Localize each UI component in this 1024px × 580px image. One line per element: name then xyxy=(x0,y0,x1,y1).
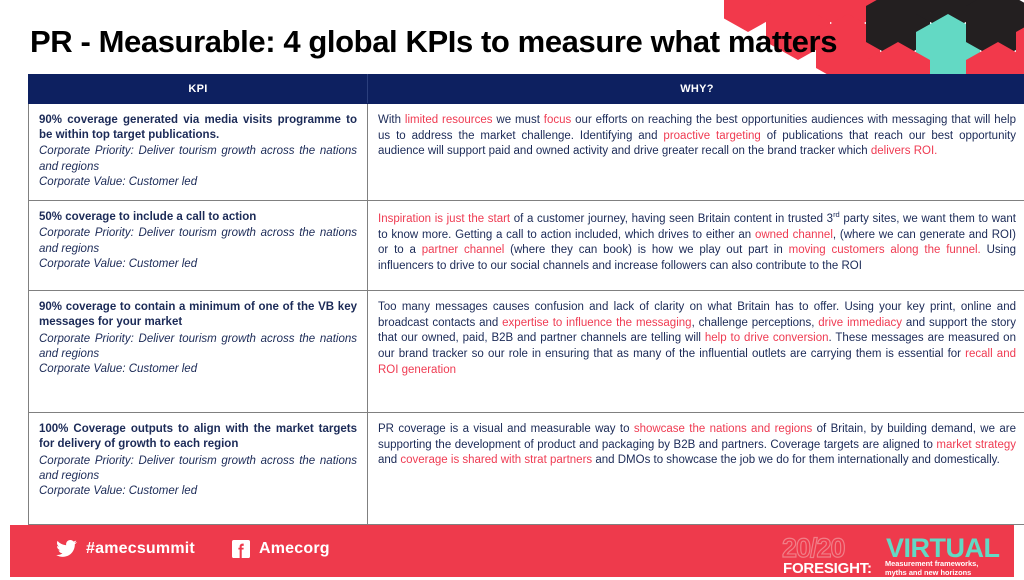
body-text: of a customer journey, having seen Brita… xyxy=(510,213,833,225)
hexagon-shape xyxy=(916,0,980,32)
kpi-heading: 100% Coverage outputs to align with the … xyxy=(39,422,357,452)
table-row: 90% coverage to contain a minimum of one… xyxy=(29,291,1024,413)
body-text: PR coverage is a visual and measurable w… xyxy=(378,423,634,435)
highlighted-text: delivers ROI. xyxy=(871,145,937,157)
facebook-handle-group[interactable]: Amecorg xyxy=(232,540,330,558)
table-row: 50% coverage to include a call to action… xyxy=(29,201,1024,291)
kpi-cell: 90% coverage to contain a minimum of one… xyxy=(29,291,368,413)
kpi-corporate-value: Corporate Value: Customer led xyxy=(39,257,357,272)
facebook-icon xyxy=(232,540,250,558)
kpi-heading: 90% coverage generated via media visits … xyxy=(39,113,357,143)
table-body: 90% coverage generated via media visits … xyxy=(29,104,1024,525)
highlighted-text: Inspiration is just the start xyxy=(378,213,510,225)
hexagon-shape xyxy=(1016,14,1024,82)
kpi-corporate-value: Corporate Value: Customer led xyxy=(39,484,357,499)
kpi-heading: 50% coverage to include a call to action xyxy=(39,210,357,225)
highlighted-text: partner channel xyxy=(422,244,505,256)
kpi-corporate-priority: Corporate Priority: Deliver tourism grow… xyxy=(39,454,357,485)
footer-bar: #amecsummit Amecorg 20/20 VIRTUAL FORESI… xyxy=(10,525,1014,577)
kpi-table: KPI WHY? 90% coverage generated via medi… xyxy=(28,74,1024,525)
body-text: (where they can book) is how we play out… xyxy=(504,244,788,256)
facebook-handle-label: Amecorg xyxy=(259,540,330,558)
highlighted-text: limited resources xyxy=(405,114,493,126)
twitter-icon xyxy=(55,540,77,558)
highlighted-text: market strategy xyxy=(936,439,1016,451)
highlighted-text: moving customers along the funnel. xyxy=(789,244,981,256)
kpi-cell: 90% coverage generated via media visits … xyxy=(29,104,368,201)
hexagon-shape xyxy=(866,0,930,60)
twitter-handle-group[interactable]: #amecsummit xyxy=(55,540,195,558)
highlighted-text: showcase the nations and regions xyxy=(634,423,813,435)
highlighted-text: expertise to influence the messaging xyxy=(502,317,691,329)
highlighted-text: help to drive conversion xyxy=(705,332,829,344)
why-paragraph: Inspiration is just the start of a custo… xyxy=(378,210,1016,274)
why-paragraph: Too many messages causes confusion and l… xyxy=(378,300,1016,378)
body-text: rd xyxy=(833,210,840,219)
event-logo: 20/20 VIRTUAL FORESIGHT: Measurement fra… xyxy=(782,531,992,575)
why-cell: With limited resources we must focus our… xyxy=(368,104,1024,201)
table-row: 90% coverage generated via media visits … xyxy=(29,104,1024,201)
table-row: 100% Coverage outputs to align with the … xyxy=(29,413,1024,525)
page-title: PR - Measurable: 4 global KPIs to measur… xyxy=(30,24,837,60)
kpi-cell: 100% Coverage outputs to align with the … xyxy=(29,413,368,525)
kpi-heading: 90% coverage to contain a minimum of one… xyxy=(39,300,357,330)
highlighted-text: coverage is shared with strat partners xyxy=(400,454,592,466)
kpi-corporate-priority: Corporate Priority: Deliver tourism grow… xyxy=(39,226,357,257)
why-paragraph: With limited resources we must focus our… xyxy=(378,113,1016,160)
highlighted-text: proactive targeting xyxy=(663,130,760,142)
highlighted-text: owned channel xyxy=(755,229,833,241)
kpi-corporate-value: Corporate Value: Customer led xyxy=(39,175,357,190)
kpi-corporate-value: Corporate Value: Customer led xyxy=(39,362,357,377)
highlighted-text: focus xyxy=(544,114,572,126)
body-text: , challenge perceptions, xyxy=(692,317,819,329)
hexagon-shape xyxy=(966,0,1024,60)
highlighted-text: drive immediacy xyxy=(818,317,902,329)
column-header-why: WHY? xyxy=(368,75,1024,104)
twitter-handle-label: #amecsummit xyxy=(86,540,195,558)
logo-tagline-text: Measurement frameworks, myths and new ho… xyxy=(885,559,995,577)
body-text: With xyxy=(378,114,405,126)
table-header-row: KPI WHY? xyxy=(29,75,1024,104)
why-cell: Too many messages causes confusion and l… xyxy=(368,291,1024,413)
why-paragraph: PR coverage is a visual and measurable w… xyxy=(378,422,1016,469)
body-text: we must xyxy=(493,114,544,126)
kpi-corporate-priority: Corporate Priority: Deliver tourism grow… xyxy=(39,332,357,363)
kpi-cell: 50% coverage to include a call to action… xyxy=(29,201,368,291)
kpi-corporate-priority: Corporate Priority: Deliver tourism grow… xyxy=(39,144,357,175)
body-text: and DMOs to showcase the job we do for t… xyxy=(592,454,1000,466)
body-text: and xyxy=(378,454,400,466)
column-header-kpi: KPI xyxy=(29,75,368,104)
hexagon-shape xyxy=(916,14,980,82)
why-cell: Inspiration is just the start of a custo… xyxy=(368,201,1024,291)
why-cell: PR coverage is a visual and measurable w… xyxy=(368,413,1024,525)
logo-foresight-text: FORESIGHT: xyxy=(783,560,872,577)
